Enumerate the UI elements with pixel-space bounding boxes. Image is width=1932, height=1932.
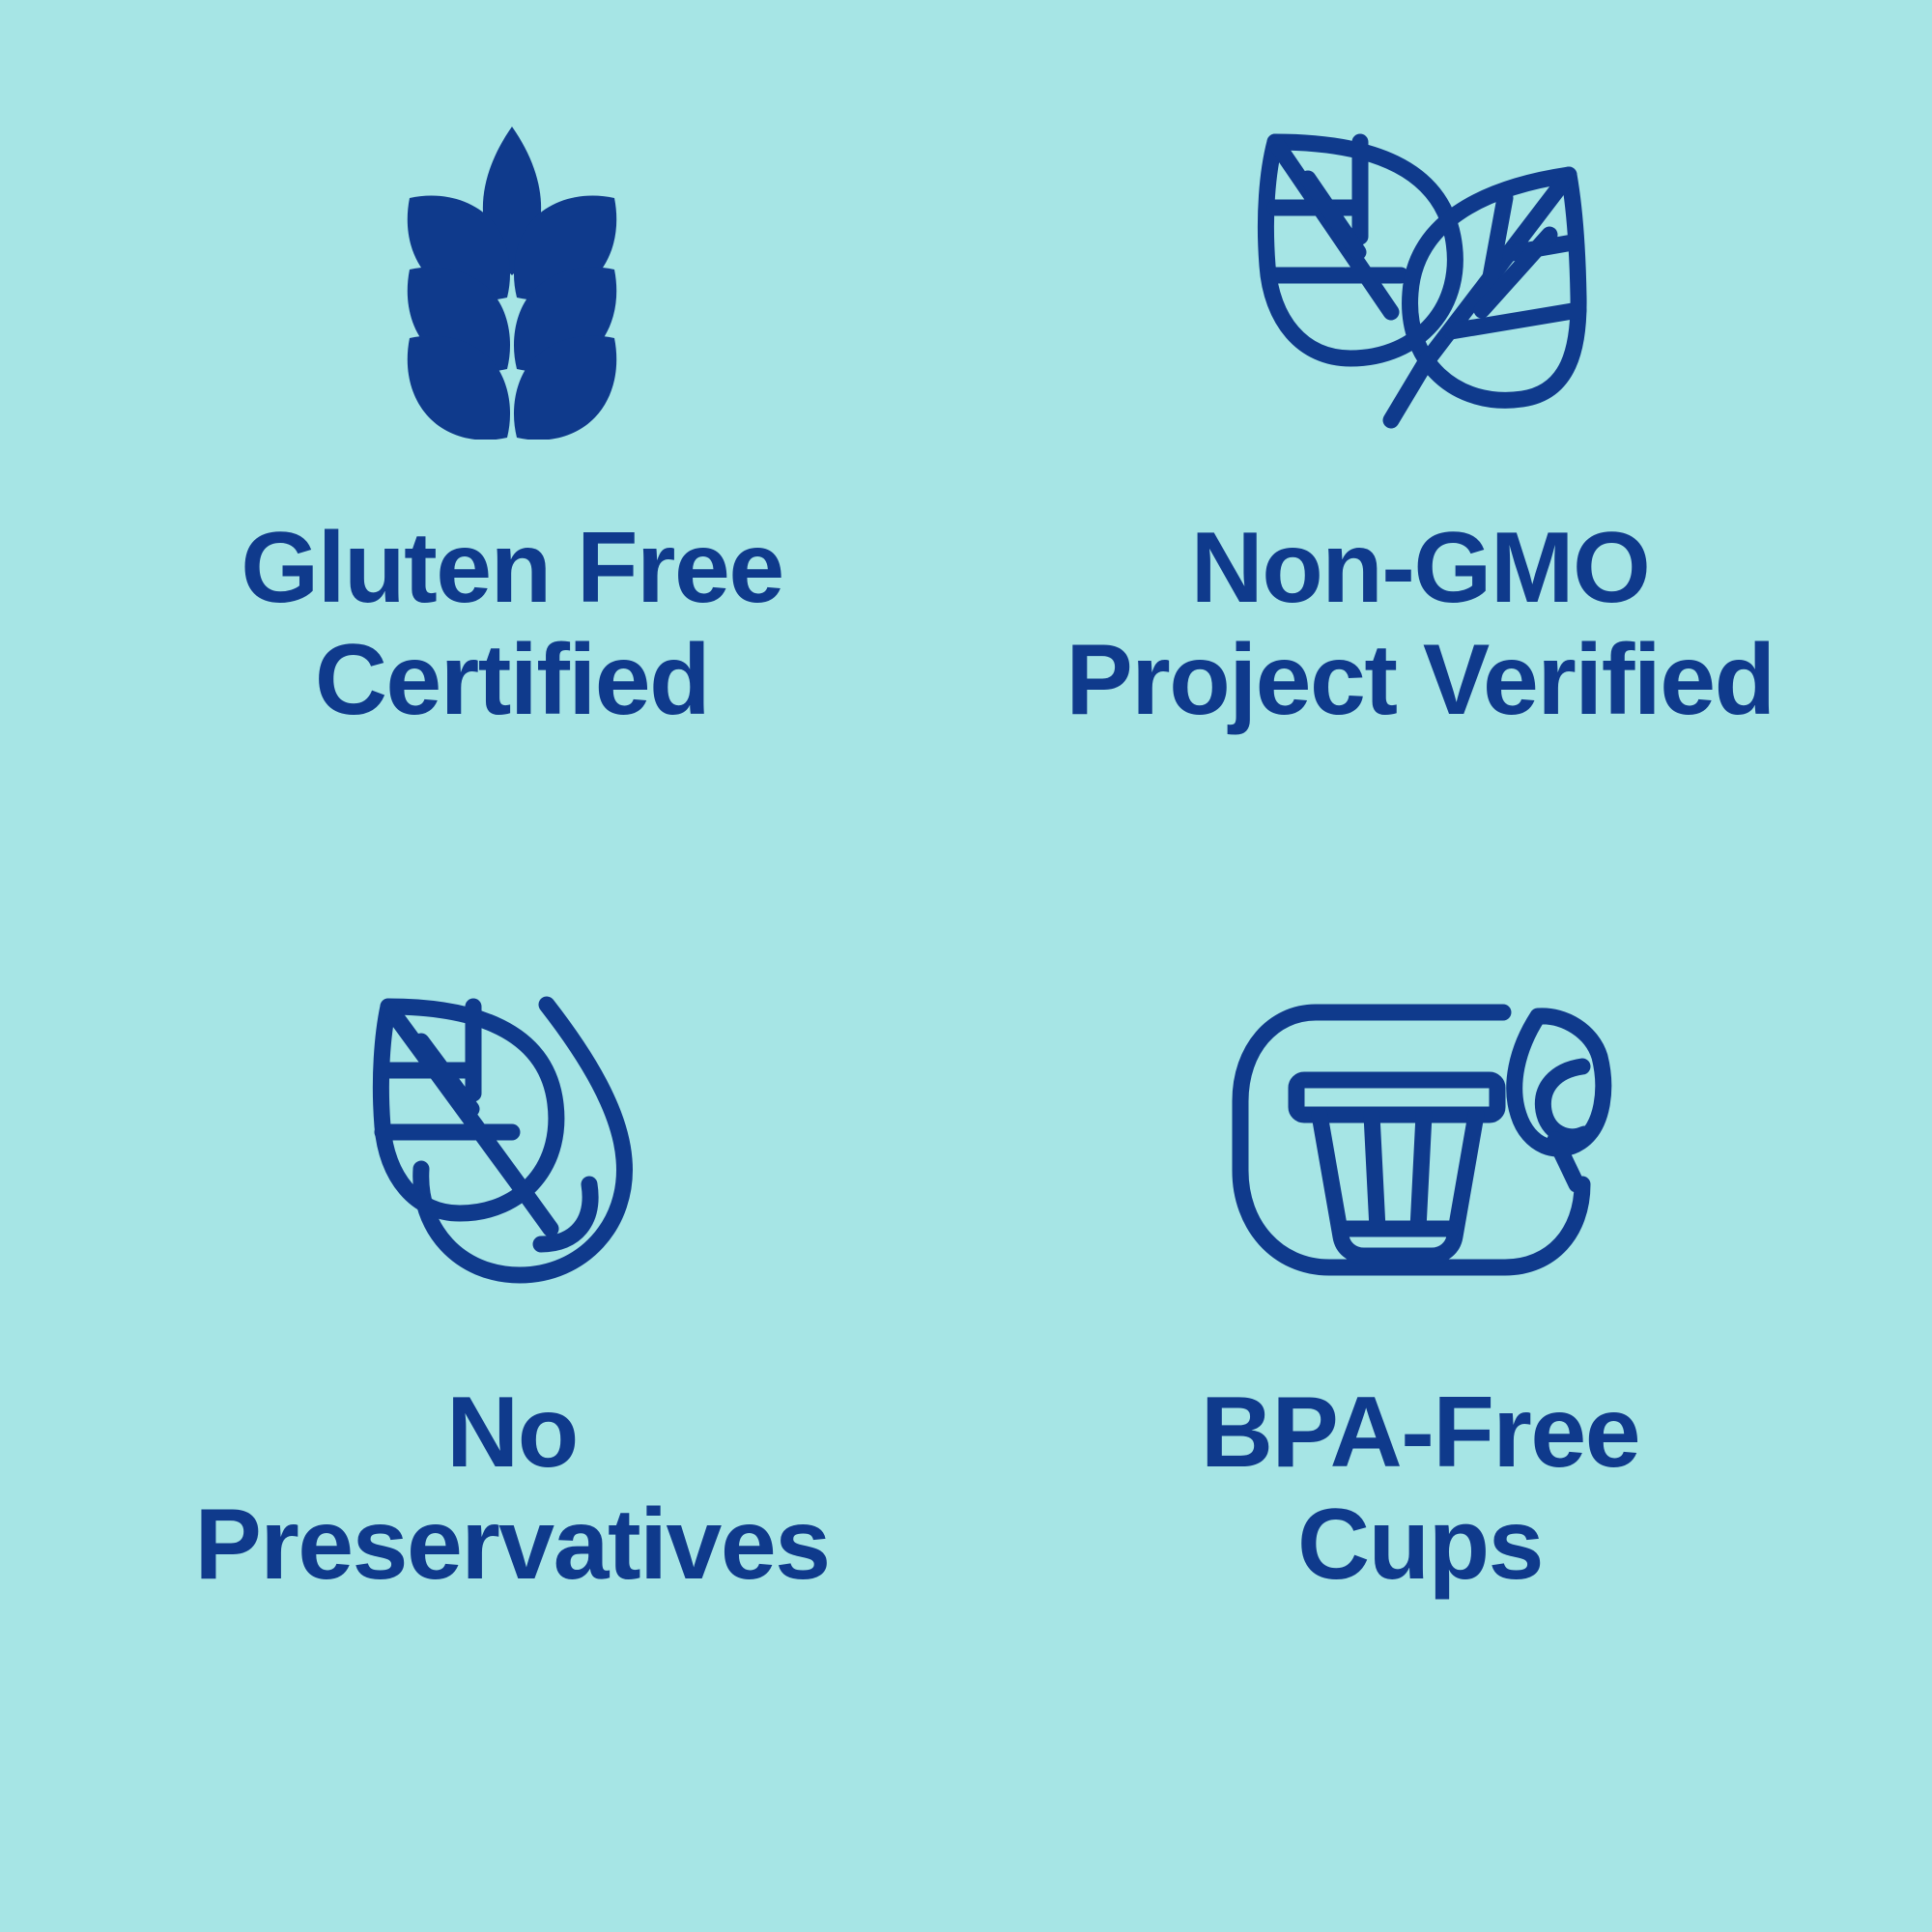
badge-label-non-gmo: Non-GMO Project Verified [1065,512,1774,737]
wheat-icon [367,116,657,444]
badge-bpa-free: BPA-Free Cups [966,980,1874,1845]
badge-gluten-free: Gluten Free Certified [58,116,966,980]
leaf-droplet-icon [367,980,657,1299]
badge-non-gmo: Non-GMO Project Verified [966,116,1874,980]
benefit-badge-grid: Gluten Free Certified [0,0,1932,1932]
badge-label-bpa-free: BPA-Free Cups [1201,1377,1639,1602]
two-leaves-icon [1246,116,1594,444]
badge-label-gluten-free: Gluten Free Certified [241,512,782,737]
badge-no-preservatives: No Preservatives [58,980,966,1845]
badge-label-no-preservatives: No Preservatives [194,1377,829,1602]
cup-leaf-icon [1227,980,1613,1299]
